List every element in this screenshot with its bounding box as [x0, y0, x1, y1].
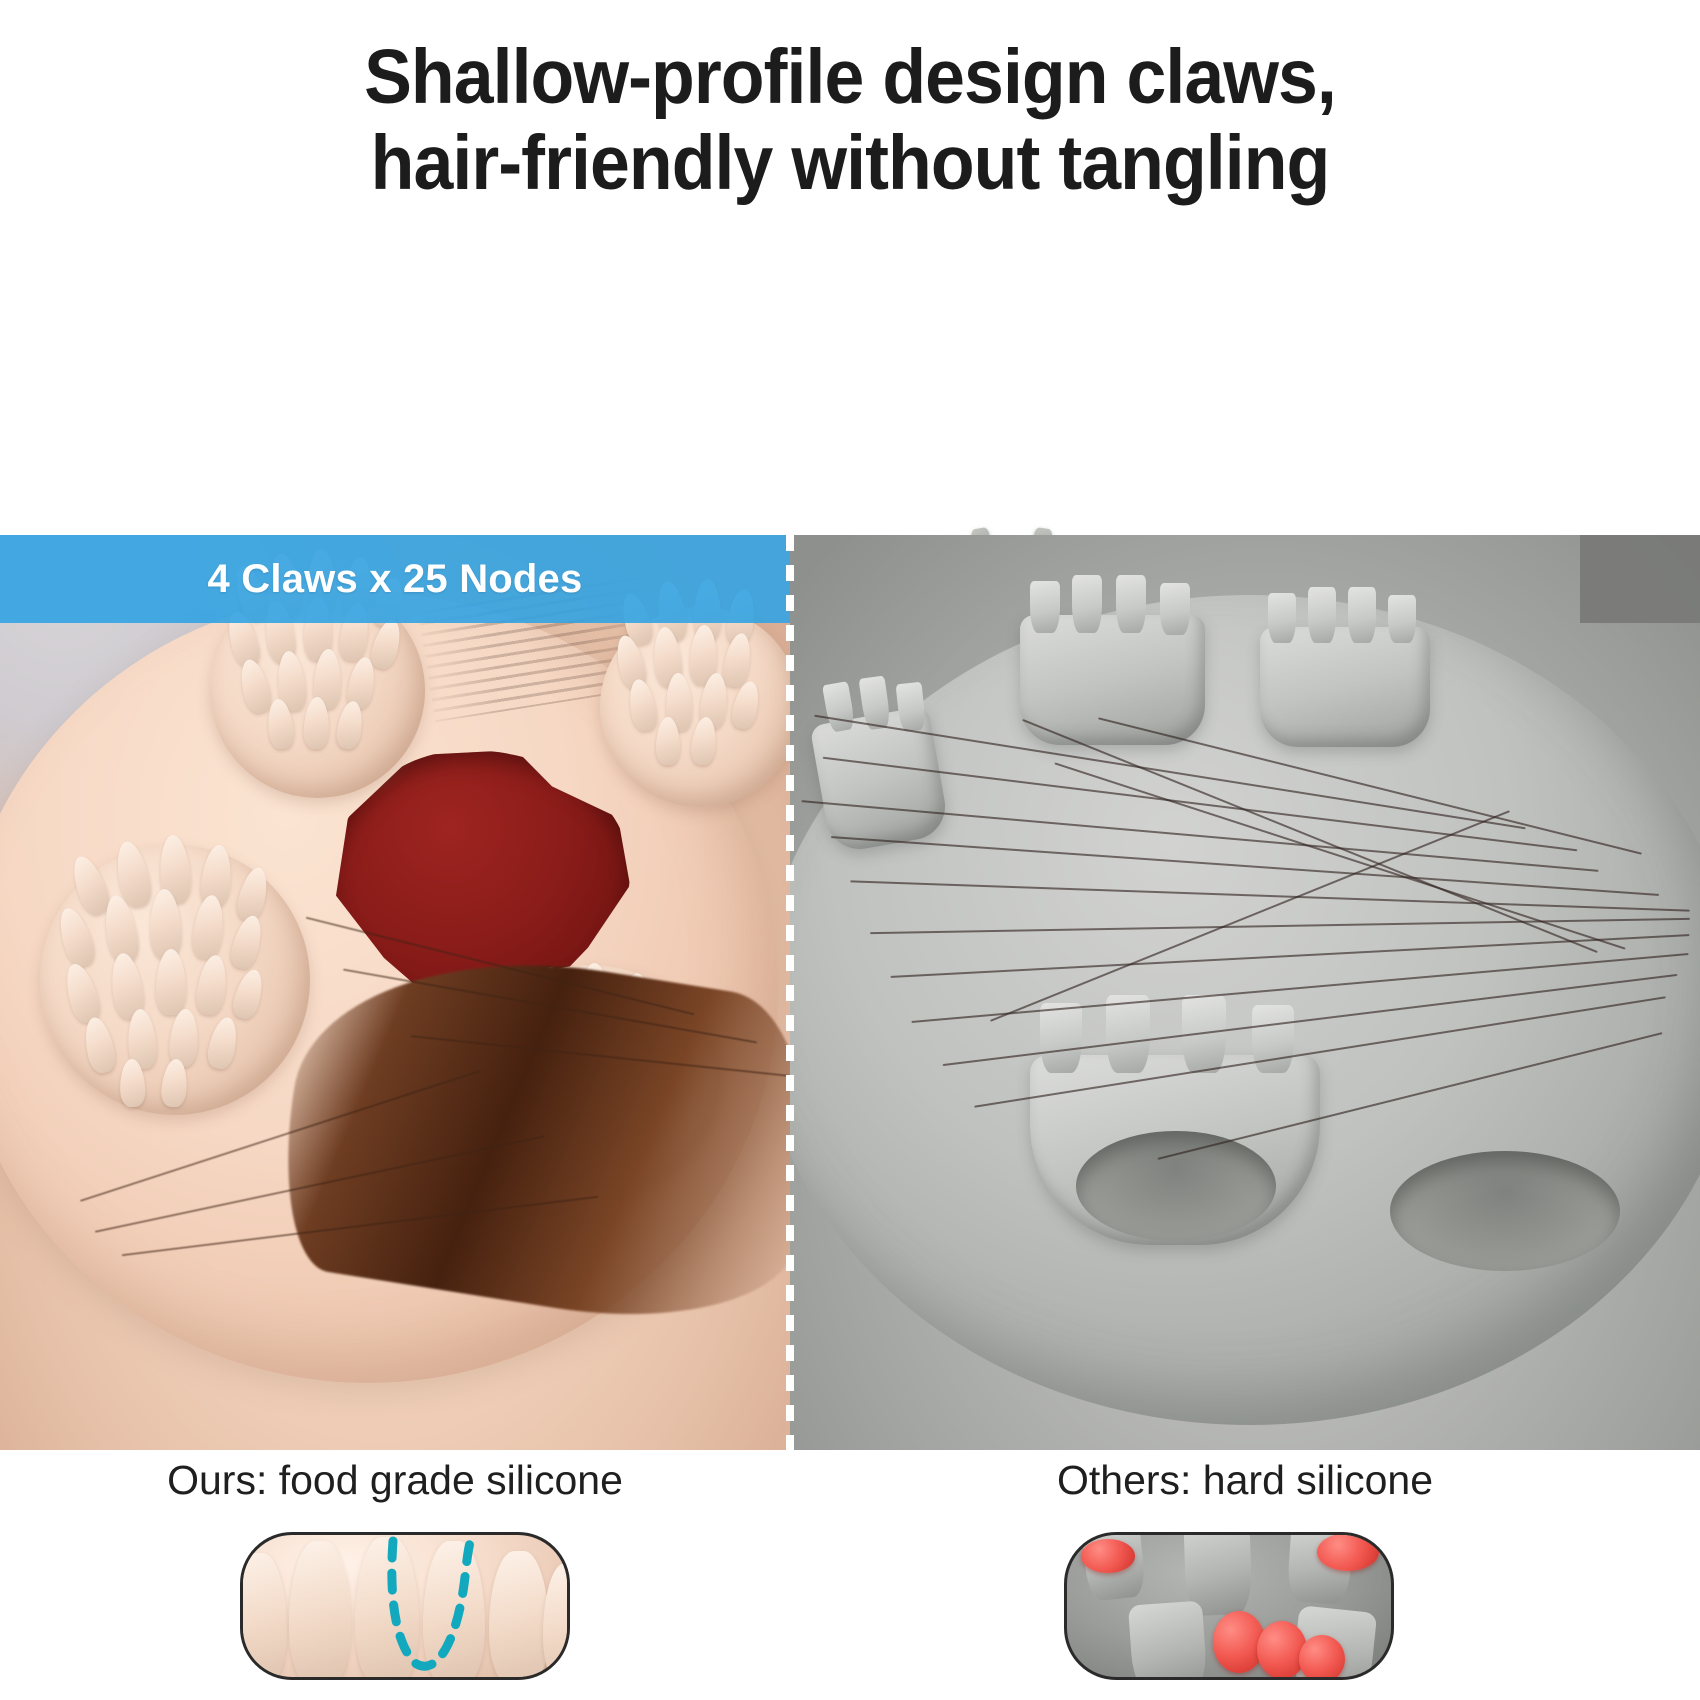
claw-pad [40, 845, 310, 1115]
claw-node [227, 913, 266, 972]
banner-ours: 4 Claws x 25 Nodes [0, 535, 790, 623]
panel-others: Fewer Nodes [790, 535, 1700, 1450]
claw-prong [1308, 587, 1336, 643]
claw-pad [600, 607, 790, 807]
scalp-irritation-bump [1317, 1533, 1379, 1571]
claw-node [368, 617, 406, 672]
claw-prong [1252, 1005, 1294, 1073]
claw-prong [1268, 593, 1296, 643]
claw-prong [1160, 583, 1190, 635]
comparison-panels: 4 Claws x 25 Nodes [0, 535, 1700, 1450]
irritated-scalp-thumbnail [1064, 1532, 1394, 1680]
page-title: Shallow-profile design claws, hair-frien… [0, 34, 1700, 206]
claw-turret [1260, 627, 1430, 747]
caption-ours: Ours: food grade silicone [0, 1460, 790, 1501]
claw-hollow [1390, 1151, 1620, 1271]
shallow-node-profile-thumbnail [240, 1532, 570, 1680]
claw-prong [1116, 575, 1146, 633]
claw-prong [1030, 581, 1060, 633]
claw-prong [1388, 595, 1416, 643]
scalp-irritation-bump [1299, 1635, 1345, 1680]
claw-node [194, 953, 230, 1016]
page-title-line-2: hair-friendly without tangling [115, 120, 1584, 206]
scalp-irritation-bump [1081, 1539, 1135, 1573]
banner-others: Fewer Nodes [1580, 535, 1700, 623]
ours-product-photo [0, 535, 790, 1450]
claw-node [205, 1015, 241, 1071]
claw-node [60, 960, 103, 1025]
claw-prong [1072, 575, 1102, 633]
infographic-page: Shallow-profile design claws, hair-frien… [0, 0, 1700, 1700]
claw-prong [1348, 587, 1376, 643]
panel-ours: 4 Claws x 25 Nodes [0, 535, 790, 1450]
caption-others: Others: hard silicone [790, 1460, 1700, 1501]
dashed-vertical-divider [786, 535, 794, 1450]
claw-prong [1128, 1601, 1208, 1680]
versus-row: VS [0, 258, 1700, 473]
claw-node [230, 967, 268, 1022]
dashed-shallow-valley-curve [243, 1535, 570, 1680]
claw-hollow [1076, 1131, 1276, 1241]
claw-prong [1106, 995, 1150, 1073]
page-title-line-1: Shallow-profile design claws, [115, 34, 1584, 120]
claw-node [721, 631, 755, 689]
claw-node [156, 949, 186, 1015]
banner-ours-label: 4 Claws x 25 Nodes [208, 557, 583, 602]
claw-node [80, 1015, 118, 1075]
others-product-photo [790, 535, 1700, 1450]
claw-prong [1040, 1003, 1082, 1073]
